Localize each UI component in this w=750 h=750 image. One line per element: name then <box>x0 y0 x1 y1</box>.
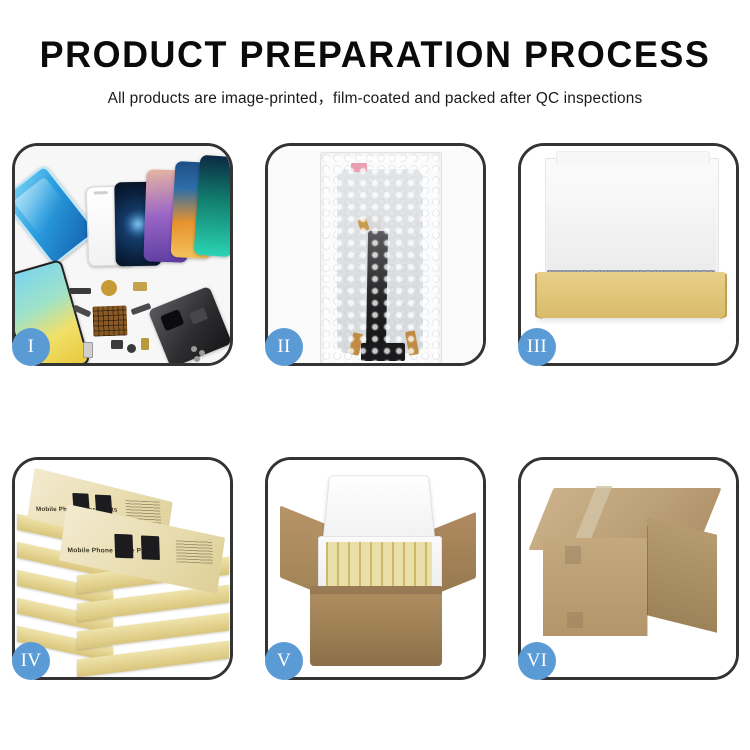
process-step-panel-2[interactable]: II <box>265 143 486 366</box>
step-badge-2: II <box>265 328 303 366</box>
product-preparation-page: PRODUCT PREPARATION PROCESS All products… <box>0 0 750 750</box>
gold-box-base <box>537 272 725 318</box>
step-3-image <box>521 146 736 363</box>
box-artwork-2b <box>141 536 160 561</box>
small-chip-b <box>127 344 136 353</box>
process-step-panel-4[interactable]: Mobile Phone Spare Parts Mobile Phone Sp… <box>12 457 233 680</box>
page-title: PRODUCT PREPARATION PROCESS <box>11 36 739 75</box>
step-badge-6: VI <box>518 642 556 680</box>
page-header: PRODUCT PREPARATION PROCESS All products… <box>0 36 750 108</box>
gold-box-stack: Mobile Phone Spare Parts Mobile Phone Sp… <box>15 468 230 676</box>
connector-grid-part <box>92 305 127 336</box>
step-badge-3: III <box>518 328 556 366</box>
teal-gradient-phone <box>194 155 230 257</box>
step-badge-5: V <box>265 642 303 680</box>
screen-flex-cable <box>366 231 388 349</box>
step-badge-4: IV <box>12 642 50 680</box>
white-foam-sheet <box>549 204 713 276</box>
process-step-panel-5[interactable]: V <box>265 457 486 680</box>
gold-boxes-inside <box>326 542 432 586</box>
driver-ic <box>361 343 405 361</box>
bubble-wrap-bag <box>320 152 442 363</box>
box-artwork-2a <box>114 534 133 559</box>
carton-corner-edge <box>647 526 648 636</box>
carton-body <box>310 586 442 666</box>
step-6-image <box>521 460 736 677</box>
sim-tray-part <box>83 342 93 358</box>
process-step-grid: I II <box>12 143 738 680</box>
carton-tab-upper <box>565 546 581 564</box>
screws-part <box>191 346 197 352</box>
small-chip-c <box>141 338 149 350</box>
step-badge-1: I <box>12 328 50 366</box>
step-4-image: Mobile Phone Spare Parts Mobile Phone Sp… <box>15 460 230 677</box>
spare-part-bar <box>69 288 91 294</box>
step-1-image <box>15 146 230 363</box>
styrofoam-lid <box>322 475 435 543</box>
step-5-image <box>268 460 483 677</box>
carton-front-face <box>543 538 647 636</box>
step-2-image <box>268 146 483 363</box>
process-step-panel-3[interactable]: III <box>518 143 739 366</box>
page-subtitle: All products are image-printed，film-coat… <box>0 86 750 108</box>
gold-flex-part <box>133 282 147 291</box>
process-step-panel-1[interactable]: I <box>12 143 233 366</box>
pink-label-tag <box>351 163 367 172</box>
small-chip-a <box>111 340 123 349</box>
carton-side-face <box>647 517 717 632</box>
process-step-panel-6[interactable]: VI <box>518 457 739 680</box>
carton-tab-lower <box>567 612 583 628</box>
box-spec-lines-2 <box>176 538 213 563</box>
gold-speaker-part <box>101 280 117 296</box>
